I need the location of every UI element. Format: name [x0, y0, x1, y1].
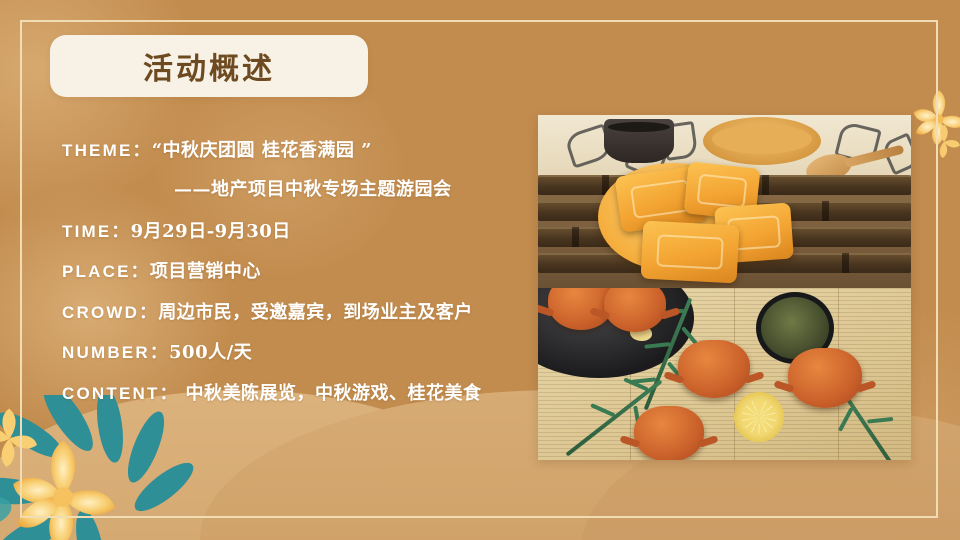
info-row-time: TIME：9月29日-9月30日	[62, 221, 542, 244]
wooden-plate	[703, 117, 821, 165]
activity-info-list: THEME：“中秋庆团圆 桂花香满园 ” ——地产项目中秋专场主题游园会 TIM…	[62, 140, 542, 423]
info-value: 周边市民，受邀嘉宾，到场业主及客户	[158, 302, 473, 323]
crab	[678, 340, 750, 398]
spoon-handle	[844, 145, 904, 168]
info-separator: ：	[160, 384, 179, 403]
info-separator: ：	[150, 343, 169, 362]
info-value: 项目营销中心	[150, 261, 261, 282]
info-value: 9月29日-9月30日	[131, 221, 291, 242]
info-label: CONTENT	[62, 384, 160, 403]
info-separator: ：	[133, 141, 152, 160]
info-label: TIME	[62, 222, 111, 241]
info-label: THEME	[62, 141, 133, 160]
info-label: PLACE	[62, 262, 131, 281]
flower-bottom-left-large	[0, 432, 138, 540]
mooncake-photo	[538, 115, 911, 288]
info-label: CROWD	[62, 303, 139, 322]
info-row-place: PLACE：项目营销中心	[62, 261, 542, 284]
info-row-theme: THEME：“中秋庆团圆 桂花香满园 ”	[62, 140, 542, 163]
info-separator: ：	[139, 303, 158, 322]
info-value: 500人/天	[169, 342, 252, 363]
info-row-number: NUMBER：500人/天	[62, 342, 542, 365]
mooncake-wedge	[641, 221, 740, 284]
slide-activity-overview: 活动概述 THEME：“中秋庆团圆 桂花香满园 ” ——地产项目中秋专场主题游园…	[0, 0, 960, 540]
info-label: NUMBER	[62, 343, 150, 362]
section-title-banner: 活动概述	[50, 35, 368, 97]
crab	[634, 406, 704, 460]
tea-cup	[604, 119, 674, 163]
crab	[788, 348, 862, 408]
flower-right-edge-small	[924, 122, 960, 162]
info-value: 中秋美陈展览，中秋游戏、桂花美食	[179, 383, 482, 404]
page-title: 活动概述	[143, 44, 275, 88]
theme-subline: ——地产项目中秋专场主题游园会	[62, 175, 542, 201]
info-separator: ：	[111, 222, 130, 241]
lemon-half	[734, 392, 784, 442]
info-separator: ：	[131, 262, 150, 281]
info-row-content: CONTENT： 中秋美陈展览，中秋游戏、桂花美食	[62, 383, 542, 406]
flower-bottom-left-small	[0, 404, 44, 474]
crab-photo	[538, 288, 911, 460]
info-value: “中秋庆团圆 桂花香满园 ”	[152, 140, 372, 161]
photo-panel	[538, 115, 911, 460]
info-row-crowd: CROWD：周边市民，受邀嘉宾，到场业主及客户	[62, 302, 542, 325]
flower-right-edge	[906, 86, 960, 152]
